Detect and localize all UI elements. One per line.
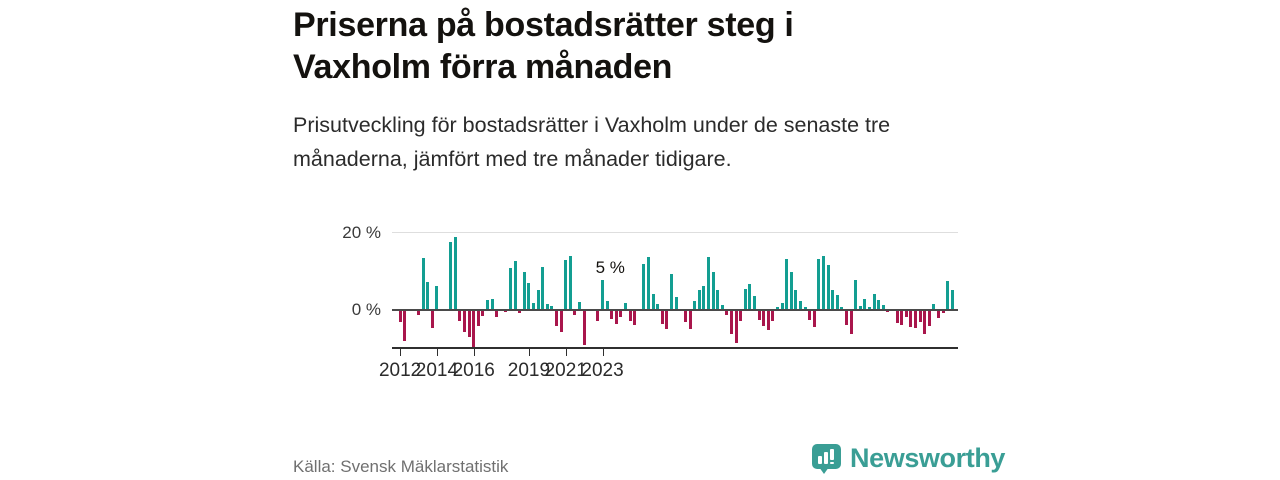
chart-bar: [486, 300, 489, 309]
page-subtitle: Prisutveckling för bostadsrätter i Vaxho…: [293, 108, 933, 176]
chart-bar: [537, 290, 540, 309]
chart-bar: [642, 264, 645, 309]
chart-plot-area: [392, 216, 958, 352]
chart-bar: [785, 259, 788, 309]
chart-bar: [652, 294, 655, 309]
chart-bar: [762, 309, 765, 326]
chart-bar: [748, 284, 751, 309]
infographic-card: Priserna på bostadsrätter steg i Vaxholm…: [0, 0, 1280, 480]
chart-bar: [422, 258, 425, 309]
chart-bar: [606, 301, 609, 309]
chart-bar: [527, 283, 530, 309]
chart-bar: [564, 260, 567, 309]
chart-bar: [712, 272, 715, 309]
bar-chart-speech-bubble-icon: [812, 444, 841, 473]
chart-bar: [928, 309, 931, 326]
chart-bar: [454, 237, 457, 309]
chart-bar: [698, 290, 701, 309]
chart-bar: [665, 309, 668, 329]
chart-bar: [615, 309, 618, 324]
chart-bar: [431, 309, 434, 328]
chart-bar: [541, 267, 544, 309]
chart-bar: [514, 261, 517, 309]
page-title: Priserna på bostadsrätter steg i Vaxholm…: [293, 4, 953, 88]
chart-bar: [799, 301, 802, 309]
chart-bar: [822, 256, 825, 309]
bar-chart: 20 %0 % 201220142016201920212023 5 %: [293, 212, 973, 382]
chart-bar: [845, 309, 848, 325]
chart-bar: [794, 290, 797, 309]
chart-bar: [702, 286, 705, 309]
chart-bar: [601, 280, 604, 309]
chart-bar: [675, 297, 678, 309]
chart-bar: [523, 272, 526, 309]
chart-bar: [491, 299, 494, 309]
y-axis-tick-label: 20 %: [342, 224, 381, 241]
chart-bar: [578, 302, 581, 309]
chart-bar: [900, 309, 903, 325]
chart-bar: [707, 257, 710, 309]
x-axis-tick: [529, 349, 530, 356]
x-axis-tick: [400, 349, 401, 356]
chart-bar: [426, 282, 429, 309]
chart-bar: [555, 309, 558, 326]
chart-bar: [790, 272, 793, 309]
chart-bar: [670, 274, 673, 309]
chart-bar: [477, 309, 480, 326]
chart-bar: [633, 309, 636, 325]
chart-bar: [583, 309, 586, 345]
chart-bar: [647, 257, 650, 309]
chart-bar: [909, 309, 912, 327]
chart-bar: [716, 290, 719, 309]
chart-bar: [449, 242, 452, 309]
chart-bar: [873, 294, 876, 309]
chart-bar: [831, 290, 834, 309]
chart-bar: [744, 289, 747, 309]
x-axis-tick-label: 2023: [581, 360, 623, 382]
chart-bar: [463, 309, 466, 332]
chart-bar: [468, 309, 471, 337]
chart-bar: [693, 301, 696, 309]
chart-bar: [753, 296, 756, 309]
chart-bar: [767, 309, 770, 330]
chart-bar: [730, 309, 733, 334]
x-axis-tick: [603, 349, 604, 356]
newsworthy-logo: Newsworthy: [812, 443, 1005, 474]
chart-bar: [854, 280, 857, 309]
x-axis-line: [392, 347, 958, 349]
chart-bar: [569, 256, 572, 309]
chart-bar: [836, 295, 839, 309]
chart-bar: [689, 309, 692, 329]
chart-bar: [435, 286, 438, 309]
chart-bar: [923, 309, 926, 334]
chart-bar: [735, 309, 738, 343]
chart-bar: [560, 309, 563, 332]
value-annotation: 5 %: [596, 258, 625, 278]
brand-name: Newsworthy: [850, 443, 1005, 474]
chart-bar: [914, 309, 917, 328]
y-axis-tick-label: 0 %: [352, 301, 381, 318]
x-axis-tick: [437, 349, 438, 356]
chart-bar: [661, 309, 664, 324]
x-axis-tick-label: 2016: [453, 360, 495, 382]
zero-line: [392, 309, 958, 311]
chart-bar: [951, 290, 954, 309]
chart-bar: [877, 300, 880, 309]
x-axis-tick: [566, 349, 567, 356]
chart-bar: [896, 309, 899, 323]
gridline: [392, 232, 958, 233]
x-axis-tick: [474, 349, 475, 356]
chart-bar: [946, 281, 949, 309]
chart-bar: [850, 309, 853, 334]
chart-bar: [403, 309, 406, 341]
chart-bar: [817, 259, 820, 309]
chart-bar: [863, 299, 866, 309]
chart-bar: [472, 309, 475, 347]
chart-bar: [509, 268, 512, 309]
source-note: Källa: Svensk Mäklarstatistik: [293, 457, 508, 477]
chart-bar: [813, 309, 816, 327]
chart-bar: [827, 265, 830, 309]
